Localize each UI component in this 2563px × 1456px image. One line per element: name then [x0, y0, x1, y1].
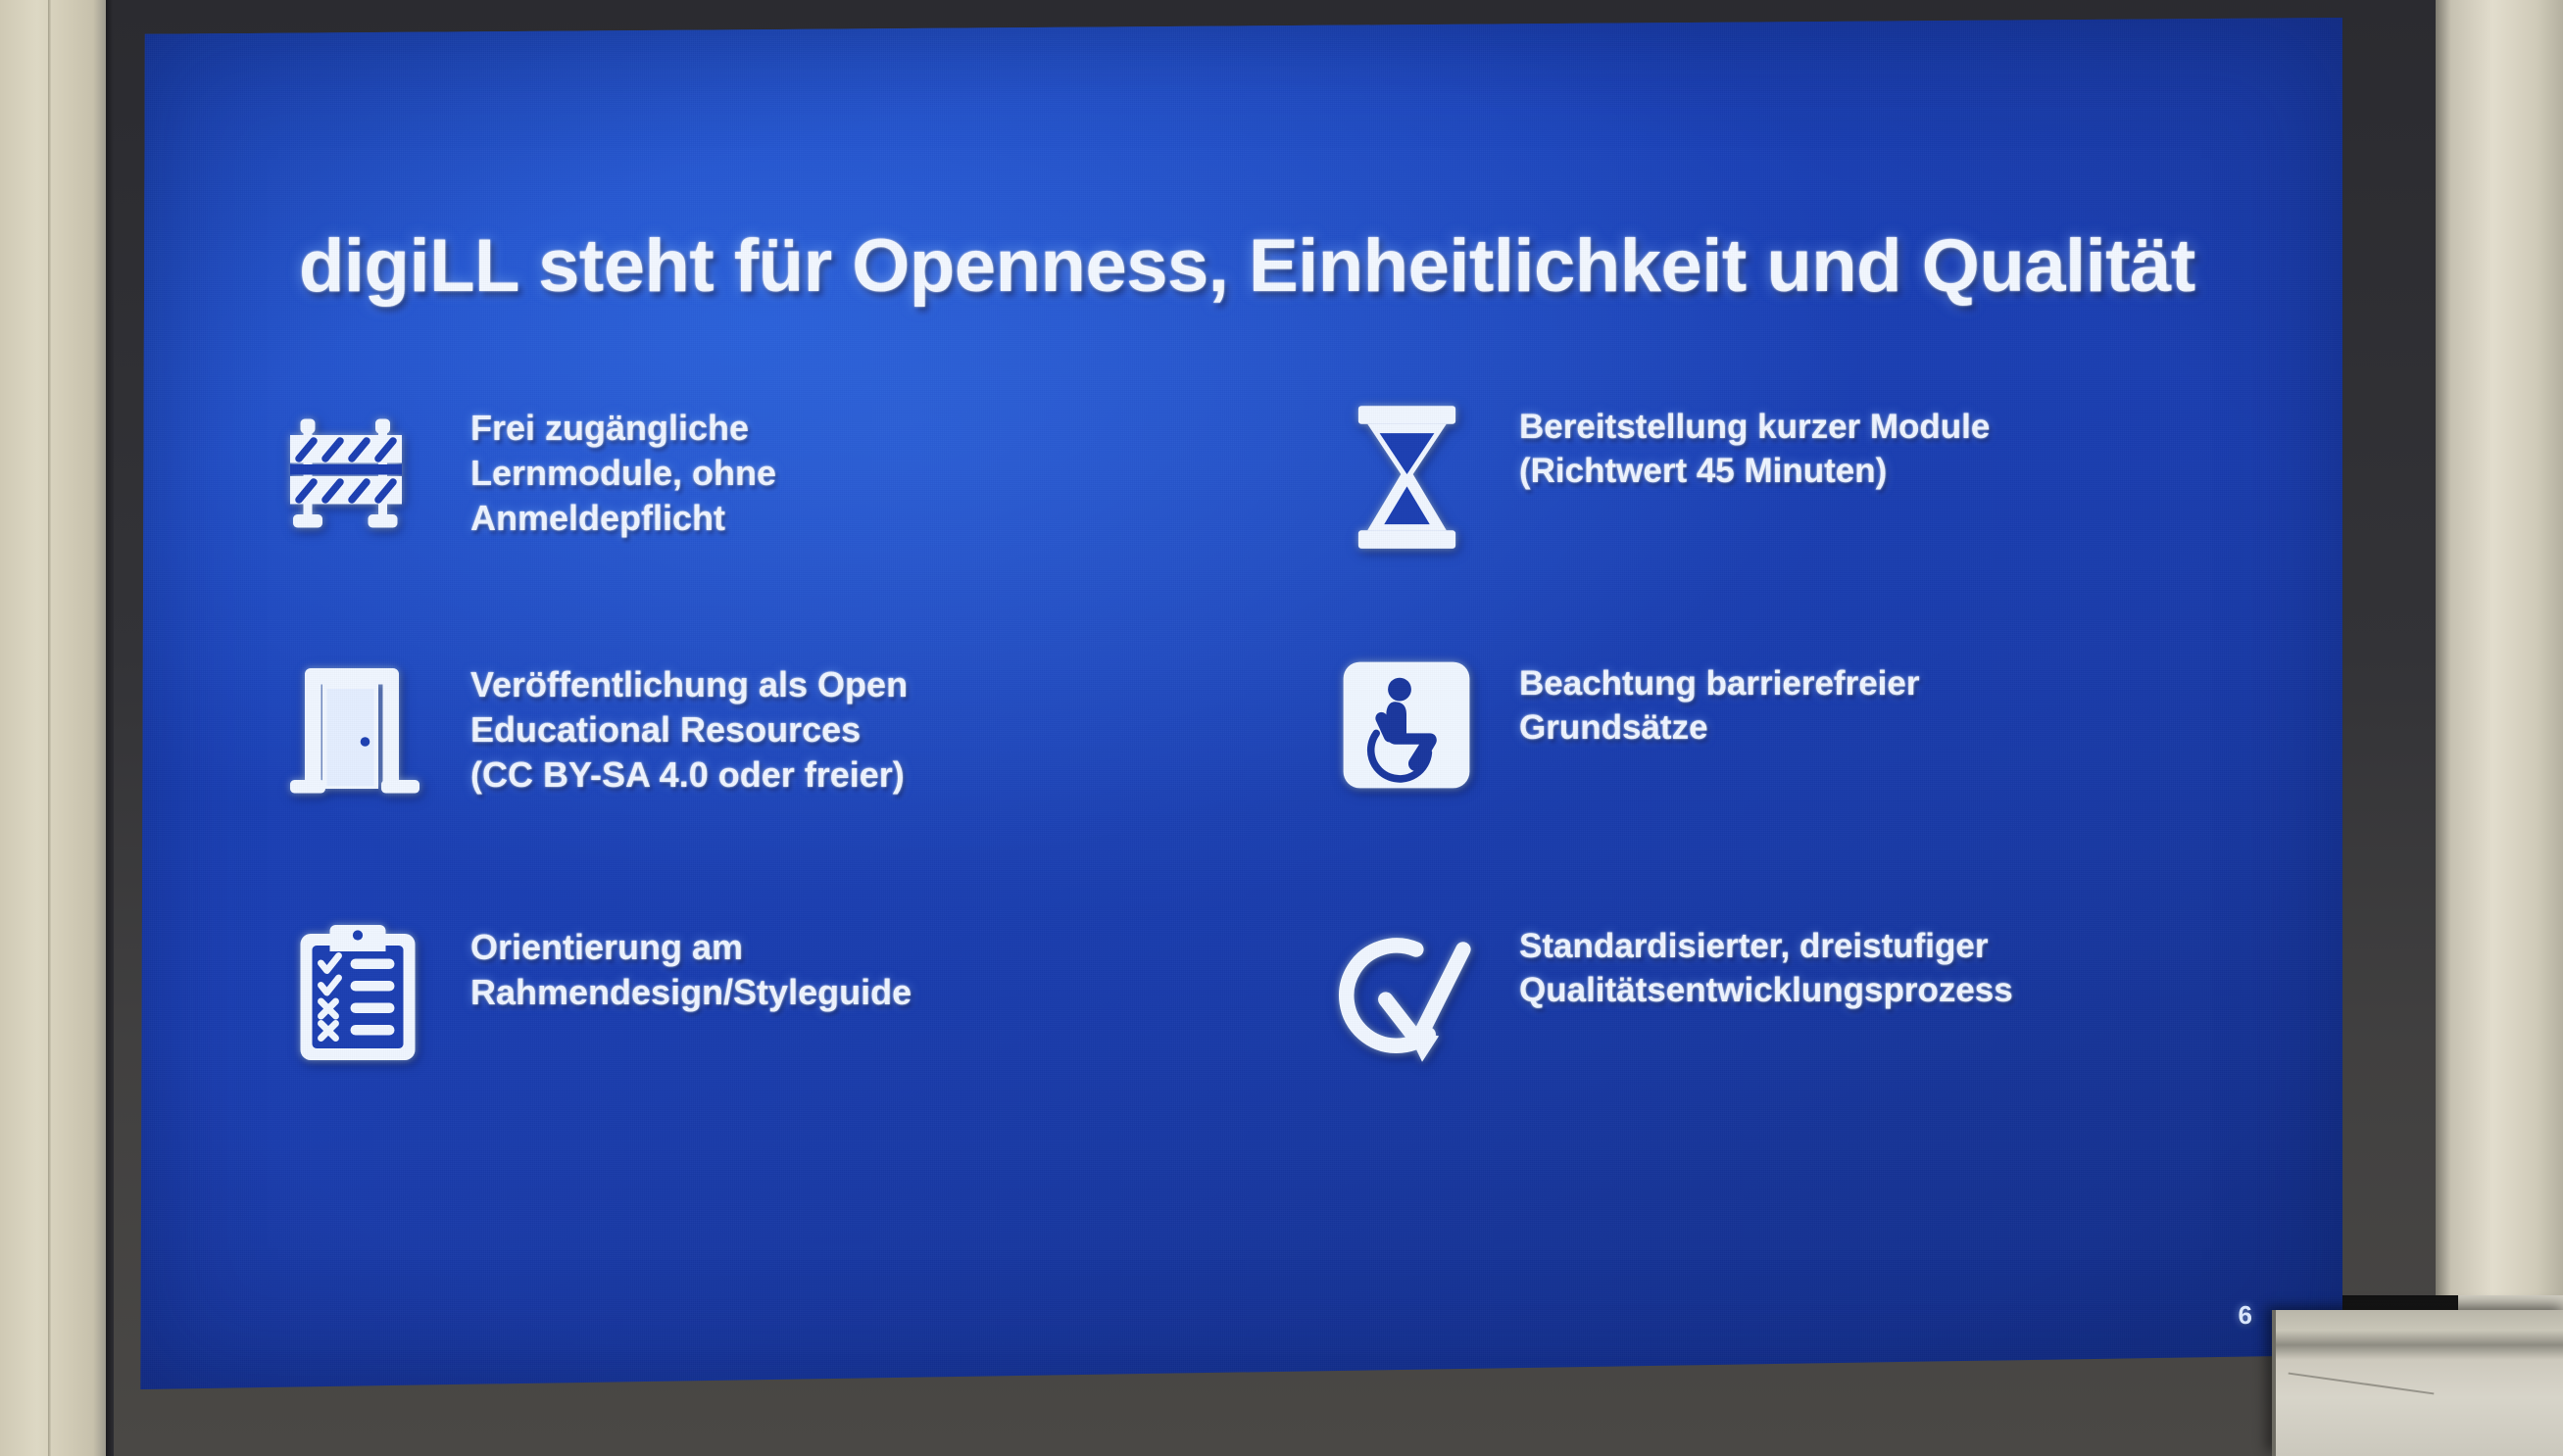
feature-line: (Richtwert 45 Minuten) — [1519, 450, 2176, 494]
slide-title: digiLL steht für Openness, Einheitlichke… — [299, 223, 2195, 309]
feature-item: Beachtung barrierefreier Grundsätze — [1294, 656, 2176, 794]
feature-line: Standardisierter, dreistufiger — [1519, 925, 2176, 969]
feature-line: Rahmendesign/Styleguide — [470, 970, 1127, 1015]
feature-line: Educational Resources — [470, 707, 1127, 752]
feature-line: Veröffentlichung als Open — [470, 662, 1127, 707]
slide-page-number: 6 — [2239, 1300, 2252, 1331]
photo-scene: digiLL steht für Openness, Einheitlichke… — [0, 0, 2563, 1456]
feature-line: Orientierung am — [470, 925, 1127, 970]
feature-text: Bereitstellung kurzer Module (Richtwert … — [1519, 400, 2176, 494]
clipboard-checklist-icon — [245, 919, 470, 1066]
feature-line: Lernmodule, ohne — [470, 451, 1127, 496]
wheelchair-accessibility-icon — [1294, 656, 1519, 794]
feature-line: Bereitstellung kurzer Module — [1519, 406, 2176, 450]
feature-text: Beachtung barrierefreier Grundsätze — [1519, 656, 2176, 751]
feature-line: Frei zugängliche — [470, 406, 1127, 451]
feature-line: Beachtung barrierefreier — [1519, 662, 2176, 706]
feature-line: Grundsätze — [1519, 706, 2176, 751]
feature-item: Frei zugängliche Lernmodule, ohne Anmeld… — [245, 400, 1127, 547]
feature-line: (CC BY-SA 4.0 oder freier) — [470, 752, 1127, 798]
feature-text: Veröffentlichung als Open Educational Re… — [470, 656, 1127, 798]
circular-arrow-check-icon — [1294, 919, 1519, 1071]
feature-item: Standardisierter, dreistufiger Qualitäts… — [1294, 919, 2176, 1071]
flipchart-board — [2272, 1310, 2563, 1456]
feature-line: Anmeldepflicht — [470, 496, 1127, 541]
feature-item: Bereitstellung kurzer Module (Richtwert … — [1294, 400, 2176, 552]
feature-text: Frei zugängliche Lernmodule, ohne Anmeld… — [470, 400, 1127, 541]
feature-item: Veröffentlichung als Open Educational Re… — [245, 656, 1127, 803]
road-barrier-icon — [245, 400, 470, 547]
feature-item: Orientierung am Rahmendesign/Styleguide — [245, 919, 1127, 1066]
wall-left — [0, 0, 106, 1456]
feature-text: Standardisierter, dreistufiger Qualitäts… — [1519, 919, 2176, 1013]
flipchart-cap — [2458, 1295, 2563, 1311]
feature-text: Orientierung am Rahmendesign/Styleguide — [470, 919, 1127, 1015]
feature-line: Qualitätsentwicklungsprozess — [1519, 969, 2176, 1013]
hourglass-icon — [1294, 400, 1519, 552]
wall-right — [2436, 0, 2563, 1456]
presentation-slide: digiLL steht für Openness, Einheitlichke… — [137, 18, 2342, 1389]
open-door-icon — [245, 656, 470, 803]
